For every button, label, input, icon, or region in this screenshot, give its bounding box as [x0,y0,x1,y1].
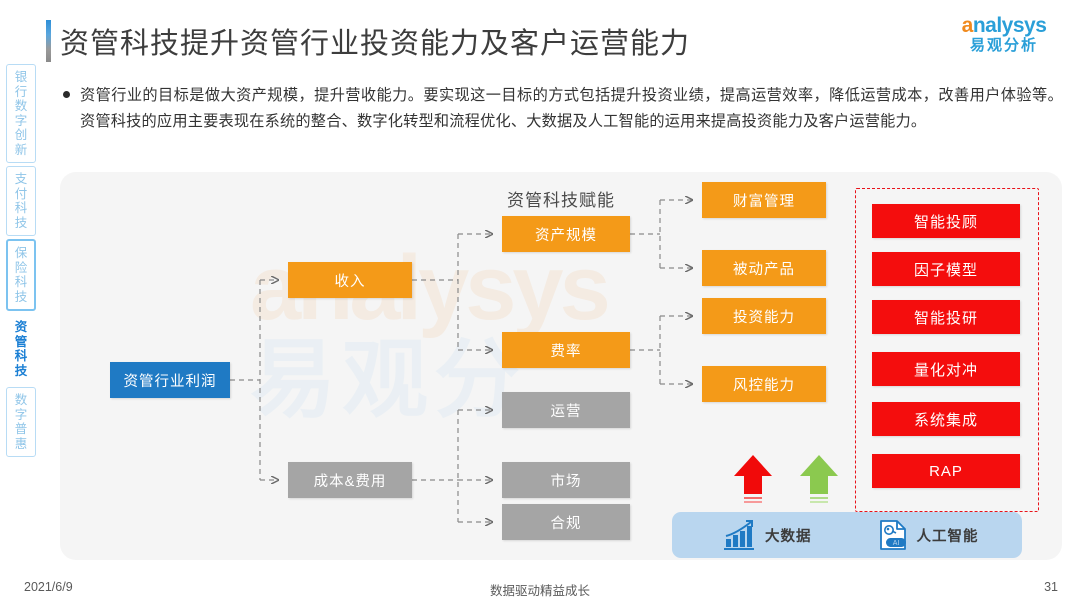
node-label: 资产规模 [535,224,597,245]
red-up-arrow-icon [732,454,774,506]
node-passive-product[interactable]: 被动产品 [702,250,826,286]
node-smart-advisor[interactable]: 智能投顾 [872,204,1020,238]
node-label: 收入 [335,270,366,291]
node-label: 市场 [551,470,582,491]
node-label: 系统集成 [914,409,978,430]
footer-tagline: 数据驱动精益成长 [0,580,1080,599]
green-up-arrow-icon [798,454,840,506]
summary-bullet: 资管行业的目标是做大资产规模，提升营收能力。要实现这一目标的方式包括提升投资业绩… [63,83,1063,135]
node-label: 因子模型 [914,259,978,280]
enabler-ai[interactable]: AI 人工智能 [878,519,979,551]
sidebar-item-label: 数字普惠 [7,393,35,451]
sidebar-item-label: 支付科技 [7,172,35,230]
enabler-bar: 大数据 AI 人工智能 [672,512,1022,558]
node-label: 财富管理 [733,190,795,211]
node-operations[interactable]: 运营 [502,392,630,428]
sidebar-item-asset-management[interactable]: 资管科技 [6,314,36,384]
node-label: 智能投顾 [914,211,978,232]
node-label: RAP [929,463,963,480]
node-root-profit[interactable]: 资管行业利润 [110,362,230,398]
node-compliance[interactable]: 合规 [502,504,630,540]
summary-text: 资管行业的目标是做大资产规模，提升营收能力。要实现这一目标的方式包括提升投资业绩… [80,83,1063,135]
enabler-label: 大数据 [765,525,812,546]
logo-wordmark-rest: nalysys [973,14,1047,37]
node-label: 成本&费用 [314,470,387,491]
sidebar-item-label: 保险科技 [8,246,34,304]
svg-text:AI: AI [892,540,899,547]
diagram-card: analysys 易观分 资管科技赋能 [60,172,1062,560]
enabler-big-data[interactable]: 大数据 [724,520,812,550]
node-smart-research[interactable]: 智能投研 [872,300,1020,334]
enabler-label: 人工智能 [917,525,979,546]
node-cost-expense[interactable]: 成本&费用 [288,462,412,498]
footer-page-number: 31 [1044,580,1058,594]
logo-chinese-name: 易观分析 [944,37,1064,55]
node-label: 智能投研 [914,307,978,328]
node-fee-rate[interactable]: 费率 [502,332,630,368]
node-wealth-management[interactable]: 财富管理 [702,182,826,218]
node-market[interactable]: 市场 [502,462,630,498]
node-label: 被动产品 [733,258,795,279]
bullet-dot-icon [63,91,70,98]
logo-wordmark: analysys [944,14,1064,37]
title-accent-bar [46,20,51,62]
sidebar-item-payment[interactable]: 支付科技 [6,166,36,236]
node-label: 资管行业利润 [124,370,217,391]
footer: 2021/6/9 数据驱动精益成长 31 [0,580,1080,600]
sidebar-item-bank[interactable]: 银行数字创新 [6,64,36,163]
sidebar-item-inclusive-finance[interactable]: 数字普惠 [6,387,36,457]
bar-chart-growth-icon [724,520,756,550]
ai-document-icon: AI [878,519,908,551]
sidebar-item-label: 银行数字创新 [7,70,35,157]
node-risk-control-capability[interactable]: 风控能力 [702,366,826,402]
sidebar: 银行数字创新 支付科技 保险科技 资管科技 数字普惠 [6,64,36,457]
sidebar-item-label: 资管科技 [7,320,35,378]
logo-initial-a: a [962,14,973,37]
node-factor-model[interactable]: 因子模型 [872,252,1020,286]
node-system-integration[interactable]: 系统集成 [872,402,1020,436]
node-revenue[interactable]: 收入 [288,262,412,298]
node-investment-capability[interactable]: 投资能力 [702,298,826,334]
node-rap[interactable]: RAP [872,454,1020,488]
node-label: 投资能力 [733,306,795,327]
page-title: 资管科技提升资管行业投资能力及客户运营能力 [60,20,690,62]
node-quant-hedging[interactable]: 量化对冲 [872,352,1020,386]
node-label: 合规 [551,512,582,533]
node-label: 费率 [551,340,582,361]
node-label: 风控能力 [733,374,795,395]
node-label: 运营 [551,400,582,421]
node-label: 量化对冲 [914,359,978,380]
analysys-logo: analysys 易观分析 [944,14,1064,55]
node-asset-scale[interactable]: 资产规模 [502,216,630,252]
sidebar-item-insurance[interactable]: 保险科技 [6,239,36,311]
